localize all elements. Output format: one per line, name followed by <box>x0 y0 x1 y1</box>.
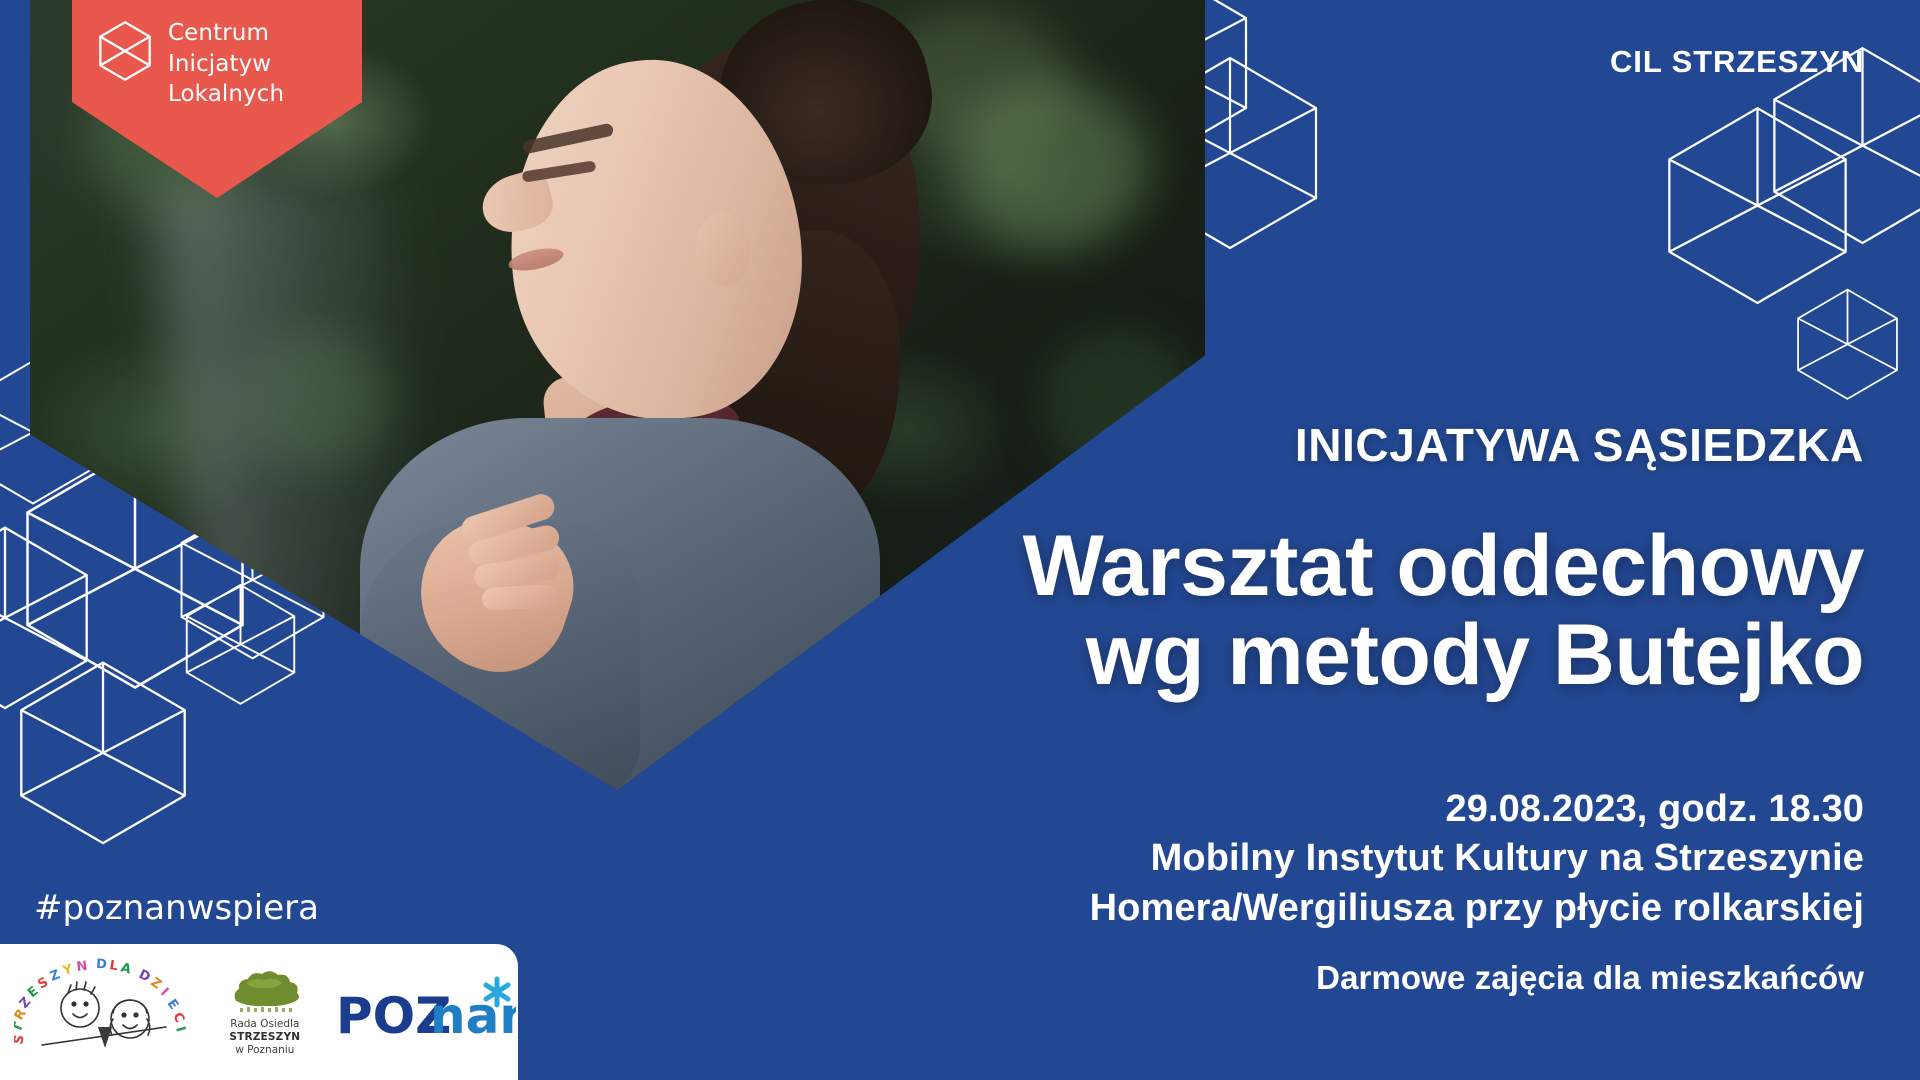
rada-osiedla-text: Rada Osiedla STRZESZYN w Poznaniu <box>229 1018 300 1058</box>
isometric-cube-icon <box>0 520 100 710</box>
cil-logo-text: Centrum Inicjatyw Lokalnych <box>168 18 284 110</box>
isometric-cube-icon <box>178 580 303 705</box>
rada-line-2: STRZESZYN <box>229 1031 300 1044</box>
event-details: 29.08.2023, godz. 18.30 Mobilny Instytut… <box>864 785 1864 997</box>
logo-line-3: Lokalnych <box>168 79 284 110</box>
event-venue: Mobilny Instytut Kultury na Strzeszynie <box>864 834 1864 883</box>
svg-text:T: T <box>14 1021 27 1035</box>
event-price-note: Darmowe zajęcia dla mieszkańców <box>864 959 1864 997</box>
svg-text:A: A <box>119 960 133 977</box>
svg-text:N: N <box>76 959 89 975</box>
svg-text:Z: Z <box>48 967 62 984</box>
svg-text:S: S <box>14 1034 28 1046</box>
org-tag: CIL STRZESZYN <box>1610 44 1864 80</box>
svg-text:I: I <box>157 985 171 999</box>
sponsor-logo-poznan: POZ nan <box>334 953 518 1071</box>
svg-text:L: L <box>108 958 119 974</box>
green-tree-icon <box>222 967 308 1015</box>
event-datetime: 29.08.2023, godz. 18.30 <box>864 785 1864 834</box>
rada-line-3: w Poznaniu <box>229 1044 300 1057</box>
svg-text:D: D <box>96 957 108 972</box>
svg-text:S: S <box>36 975 52 993</box>
svg-text:E: E <box>164 997 181 1013</box>
svg-text:Y: Y <box>60 962 74 979</box>
sponsor-1-name: STRZESZYN DLA DZIECI <box>194 953 195 954</box>
title-line-1: Warsztat oddechowy <box>864 522 1864 611</box>
sponsor-logo-panel: S T R Z E S Z Y N D L A D Z I E C <box>0 944 518 1080</box>
hashtag-poznanwspiera: #poznanwspiera <box>34 888 319 928</box>
page-title: Warsztat oddechowy wg metody Butejko <box>864 522 1864 701</box>
isometric-cube-icon <box>1790 285 1905 400</box>
title-line-2: wg metody Butejko <box>864 611 1864 700</box>
logo-line-1: Centrum <box>168 18 284 49</box>
kicker-label: INICJATYWA SĄSIEDZKA <box>1295 418 1864 472</box>
svg-text:I: I <box>172 1025 188 1034</box>
sponsor-logo-rada-osiedla-strzeszyn: Rada Osiedla STRZESZYN w Poznaniu <box>210 953 320 1071</box>
isometric-cube-icon <box>8 655 198 845</box>
event-address: Homera/Wergiliusza przy płycie rolkarski… <box>864 884 1864 933</box>
rada-line-1: Rada Osiedla <box>229 1018 300 1031</box>
svg-text:C: C <box>169 1010 187 1025</box>
isometric-cube-icon <box>1655 100 1860 305</box>
isometric-cube-icon <box>96 20 154 82</box>
poster-canvas: Centrum Inicjatyw Lokalnych CIL STRZESZY… <box>0 0 1920 1080</box>
seesaw-children-icon <box>42 982 166 1048</box>
sponsor-logo-strzeszyn-dla-dzieci: S T R Z E S Z Y N D L A D Z I E C <box>14 953 194 1071</box>
logo-line-2: Inicjatyw <box>168 49 284 80</box>
